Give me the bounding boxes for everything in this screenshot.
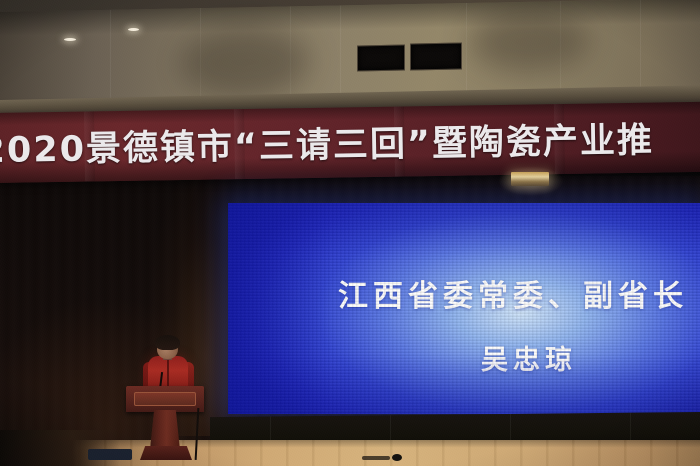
speaker-jacket-seam: [167, 358, 169, 388]
ceiling-spotlight-2: [128, 28, 139, 31]
floor-object-monitor: [88, 449, 132, 460]
banner-text: 2020景德镇市“三请三回”暨陶瓷产业推: [0, 111, 700, 174]
projection-booth-window-right: [410, 42, 462, 70]
podium-base: [140, 446, 192, 460]
slide-name-line: 吴忠琼: [228, 338, 700, 377]
floor-cable: [362, 456, 390, 460]
stage-floor-shadow-left: [0, 430, 120, 466]
projection-booth-window-left: [357, 44, 405, 71]
floor-object-small: [392, 454, 402, 461]
podium-column: [150, 410, 180, 450]
slide-title-line: 江西省委常委、副省长: [228, 271, 694, 315]
speaker-hair: [155, 335, 180, 350]
ceiling-spotlight-1: [64, 38, 76, 41]
podium-front-panel: [134, 392, 196, 406]
led-projection-screen: 江西省委常委、副省长 吴忠琼: [228, 203, 700, 414]
conference-stage-photo: 2020景德镇市“三请三回”暨陶瓷产业推 江西省委常委、副省长 吴忠琼: [0, 0, 700, 466]
event-banner: 2020景德镇市“三请三回”暨陶瓷产业推: [0, 102, 700, 183]
stage-light-fixture: [511, 172, 549, 186]
